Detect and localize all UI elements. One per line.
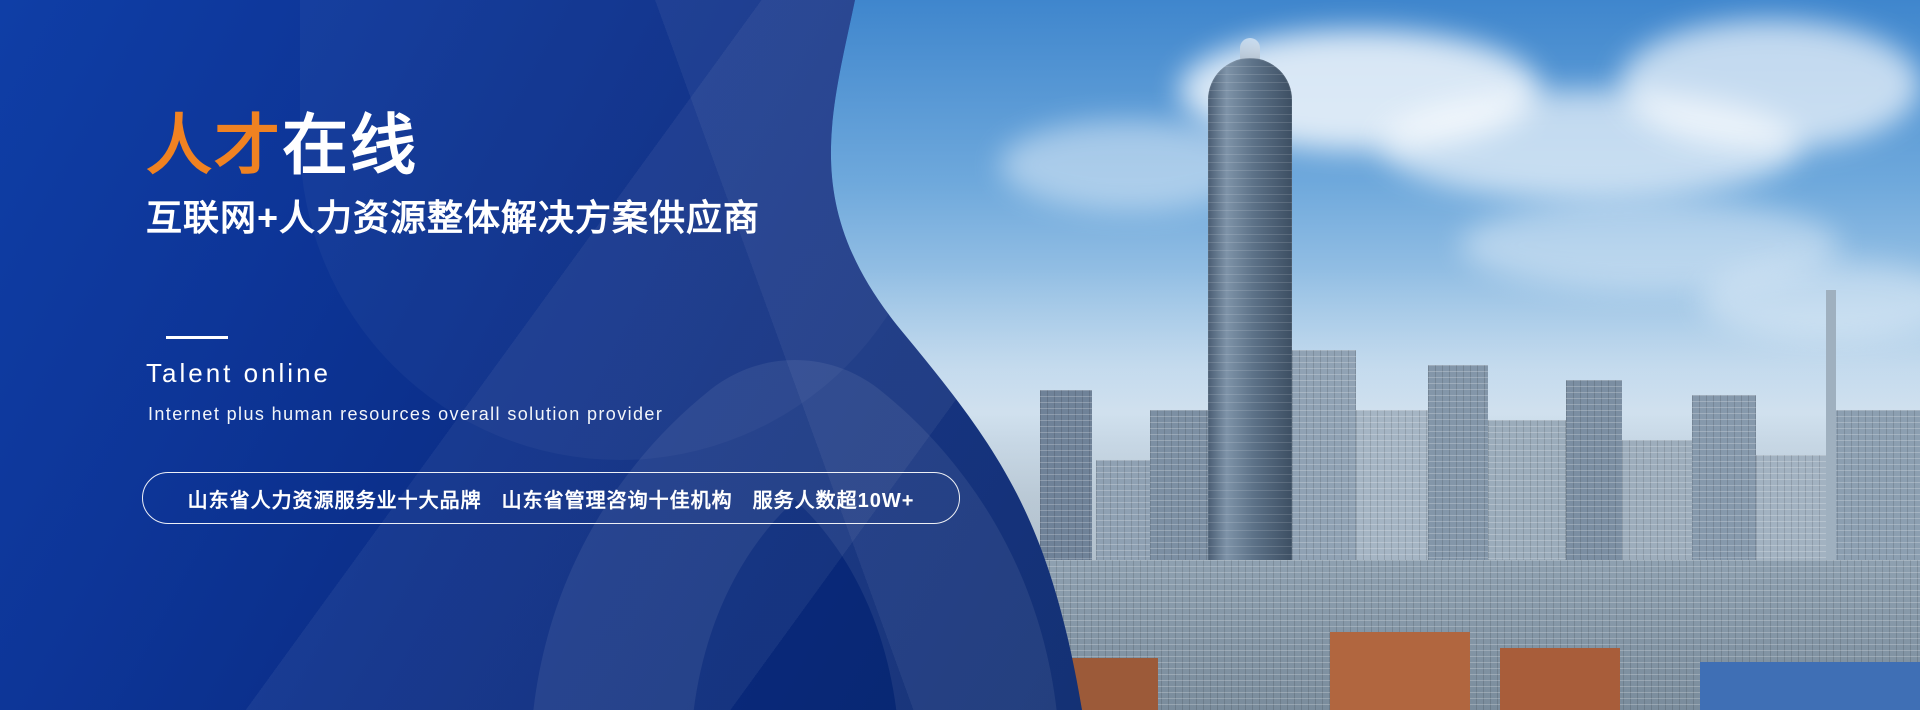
banner-title-highlight: 人才 <box>146 108 282 182</box>
signature-tower <box>1208 58 1292 618</box>
skyline-rooftop <box>1500 648 1620 710</box>
credential-badge-3: 服务人数超10W+ <box>753 490 915 512</box>
divider-rule <box>166 336 228 339</box>
banner-english-subtitle: Internet plus human resources overall so… <box>148 404 663 425</box>
banner-subtitle: 互联网+人力资源整体解决方案供应商 <box>146 196 760 239</box>
banner-english-title: Talent online <box>146 358 331 389</box>
cloud-shape <box>1620 20 1920 150</box>
hero-banner: 人才在线 互联网+人力资源整体解决方案供应商 Talent online Int… <box>0 0 1920 710</box>
banner-content: 人才在线 互联网+人力资源整体解决方案供应商 Talent online Int… <box>0 0 1215 710</box>
banner-title: 人才在线 <box>146 112 418 178</box>
skyline-foreground-roof <box>1700 662 1920 710</box>
credentials-pill: 山东省人力资源服务业十大品牌山东省管理咨询十佳机构服务人数超10W+ <box>142 472 960 524</box>
credentials-text: 山东省人力资源服务业十大品牌山东省管理咨询十佳机构服务人数超10W+ <box>188 484 915 513</box>
credential-badge-2: 山东省管理咨询十佳机构 <box>502 490 733 512</box>
credential-badge-1: 山东省人力资源服务业十大品牌 <box>188 490 482 512</box>
skyline-rooftop <box>1330 632 1470 710</box>
banner-title-rest: 在线 <box>282 108 418 182</box>
